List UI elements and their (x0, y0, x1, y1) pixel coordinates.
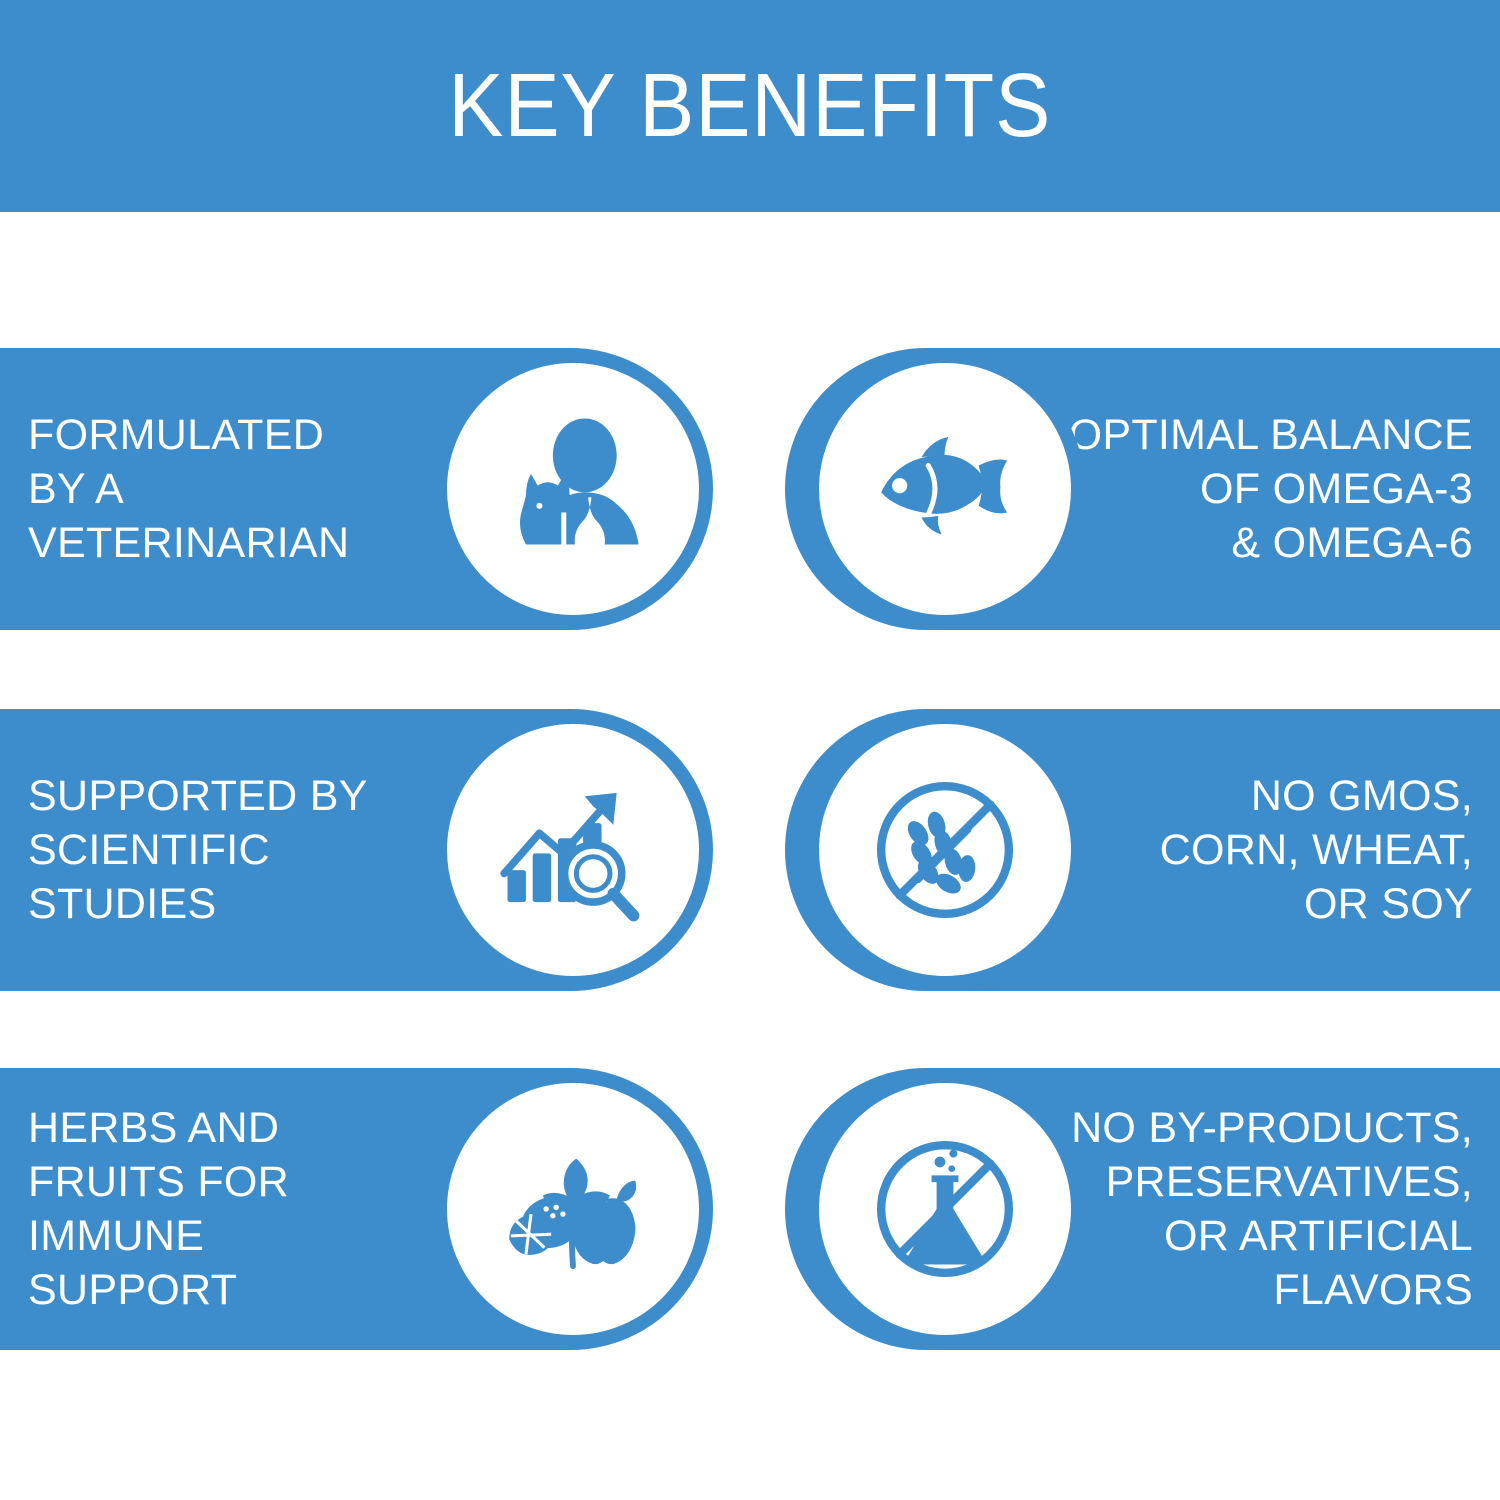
benefit-label: NO GMOS, CORN, WHEAT, OR SOY (1045, 769, 1473, 931)
growth-chart-magnifier-icon (433, 710, 713, 990)
benefit-label: OPTIMAL BALANCE OF OMEGA-3 & OMEGA-6 (1045, 408, 1473, 570)
benefit-row: FORMULATED BY A VETERINARIAN (0, 348, 1500, 630)
benefit-row: HERBS AND FRUITS FOR IMMUNE SUPPORT (0, 1068, 1500, 1350)
header-banner: KEY BENEFITS (0, 0, 1500, 212)
benefit-label: NO BY-PRODUCTS, PRESERVATIVES, OR ARTIFI… (1045, 1101, 1473, 1317)
veterinarian-icon (433, 349, 713, 629)
no-chemicals-flask-icon (805, 1069, 1085, 1349)
no-grain-icon (805, 710, 1085, 990)
page-title: KEY BENEFITS (448, 61, 1051, 151)
benefit-label: FORMULATED BY A VETERINARIAN (28, 408, 412, 570)
fruits-herbs-icon (433, 1069, 713, 1349)
benefit-label: HERBS AND FRUITS FOR IMMUNE SUPPORT (28, 1101, 412, 1317)
key-benefits-infographic: KEY BENEFITS FORMULATED BY A VETERINARIA… (0, 0, 1500, 1500)
benefit-row: SUPPORTED BY SCIENTIFIC STUDIES (0, 709, 1500, 991)
benefit-label: SUPPORTED BY SCIENTIFIC STUDIES (28, 769, 412, 931)
fish-icon (805, 349, 1085, 629)
